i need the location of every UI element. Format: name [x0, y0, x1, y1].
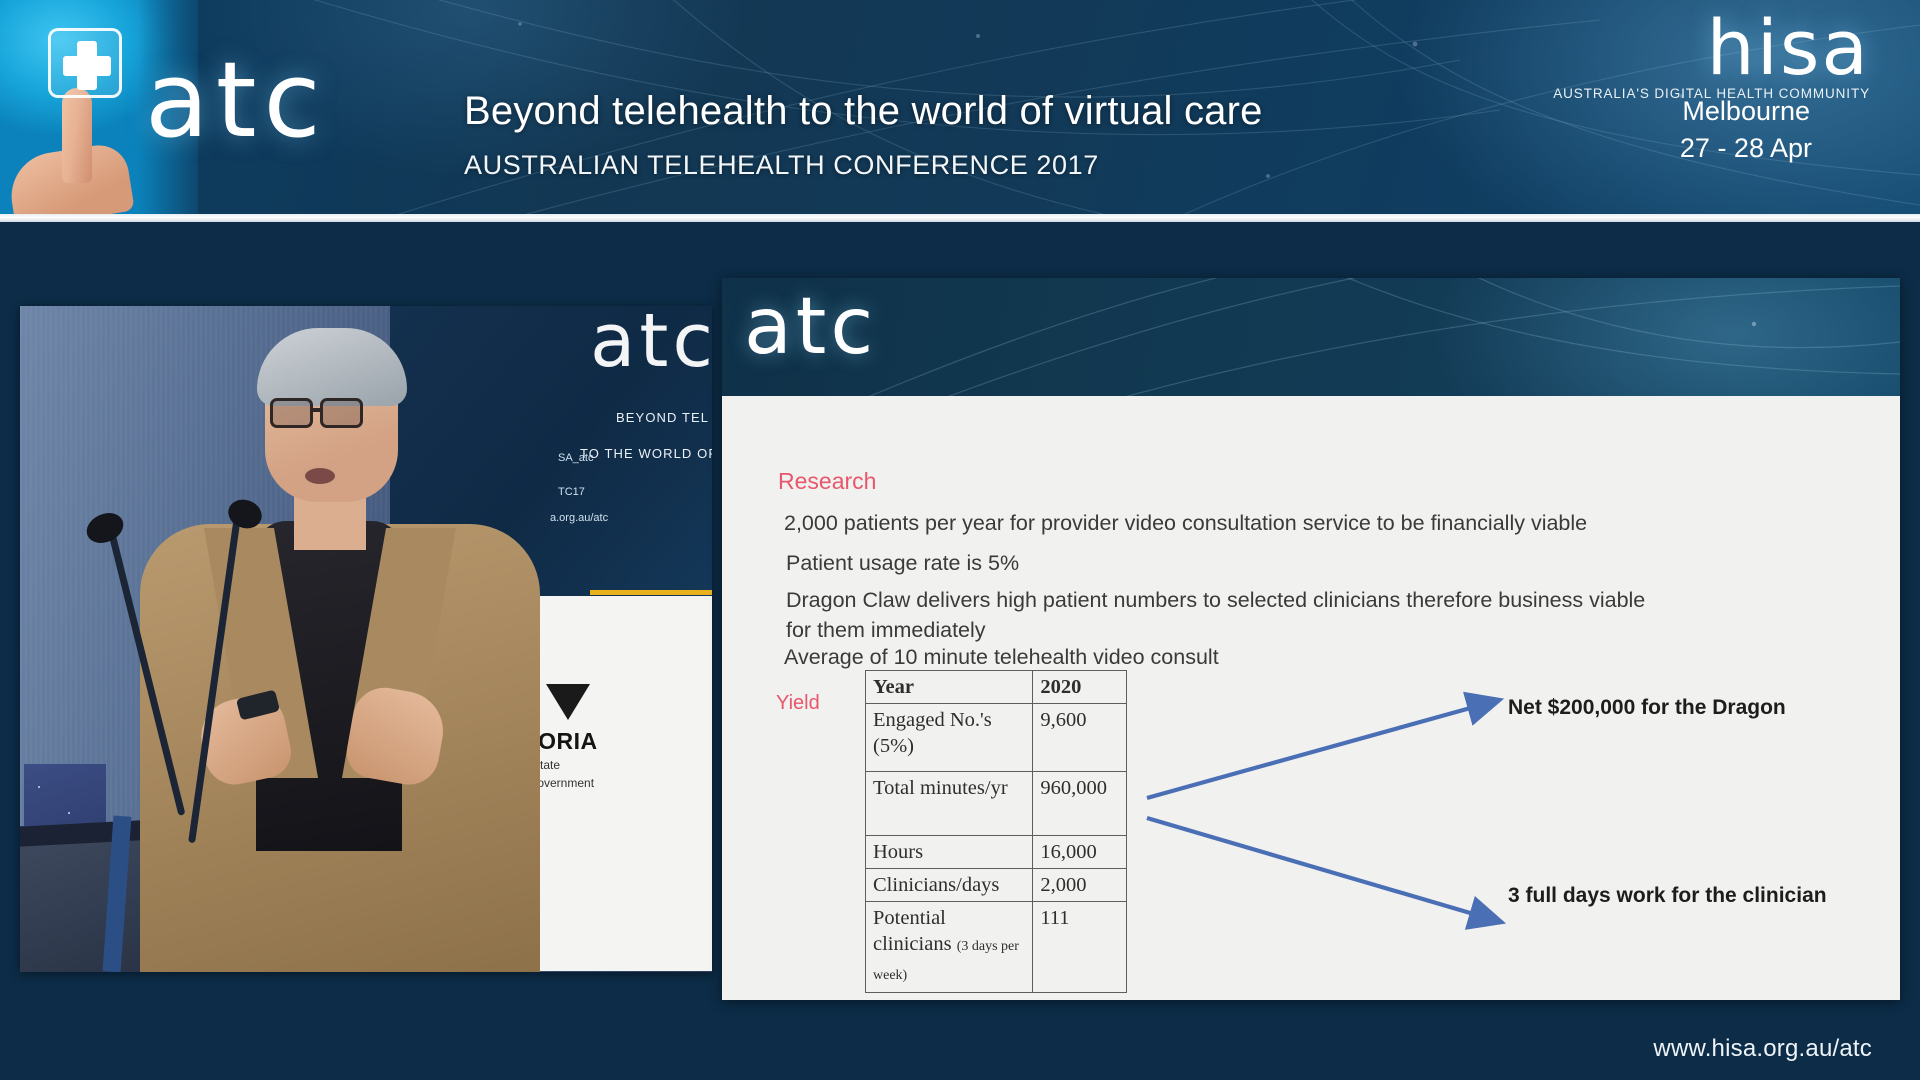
- table-cell-key: Hours: [866, 836, 1033, 869]
- annotation-net-revenue: Net $200,000 for the Dragon: [1508, 696, 1786, 720]
- backdrop-gold-rule: [590, 590, 712, 595]
- backdrop-hashtag-text: TC17: [558, 486, 585, 498]
- research-section-label: Research: [778, 468, 876, 495]
- table-cell-value: 16,000: [1033, 836, 1127, 869]
- backdrop-line-2: TO THE WORLD OF VIRTU: [580, 446, 712, 461]
- slide-header-band: atc: [722, 278, 1900, 396]
- table-row: Hours 16,000: [866, 836, 1127, 869]
- research-bullet-1: 2,000 patients per year for provider vid…: [784, 508, 1587, 538]
- yield-section-label: Yield: [776, 692, 820, 715]
- header-divider-rule: [0, 214, 1920, 222]
- table-cell-key-main: Potential clinicians: [873, 907, 952, 955]
- medical-cross-icon: [48, 28, 122, 98]
- table-cell-key: Total minutes/yr: [866, 772, 1033, 836]
- arrow-to-net-revenue: [1147, 702, 1492, 798]
- backdrop-url-text: a.org.au/atc: [550, 512, 608, 524]
- event-dates: 27 - 28 Apr: [1680, 133, 1812, 164]
- research-bullet-3: Dragon Claw delivers high patient number…: [786, 585, 1666, 645]
- arrow-to-clinician-days: [1147, 818, 1494, 920]
- table-cell-value: 2020: [1033, 671, 1127, 704]
- conference-header-banner: atc Beyond telehealth to the world of vi…: [0, 0, 1920, 214]
- table-row: Year 2020: [866, 671, 1127, 704]
- victoria-logo-icon: [546, 684, 590, 720]
- cross-horizontal-bar: [63, 56, 111, 76]
- speaker-video-panel[interactable]: atc BEYOND TEL TO THE WORLD OF VIRTU SA_…: [20, 306, 712, 972]
- annotation-clinician-days: 3 full days work for the clinician: [1508, 884, 1827, 908]
- hisa-logo: hisa: [1707, 10, 1870, 86]
- eyeglasses-left-lens: [270, 398, 313, 428]
- table-row: Clinicians/days 2,000: [866, 869, 1127, 902]
- speaker-mouth: [305, 468, 335, 484]
- research-bullet-2: Patient usage rate is 5%: [786, 548, 1019, 578]
- sponsor-banner: TORIA State Government: [510, 596, 712, 971]
- table-cell-value: 2,000: [1033, 869, 1127, 902]
- slide-atc-logo: atc: [744, 288, 877, 366]
- table-cell-key: Engaged No.'s (5%): [866, 704, 1033, 772]
- table-cell-key: Clinicians/days: [866, 869, 1033, 902]
- presentation-slide-panel[interactable]: atc Research 2,000 patients per year for…: [722, 278, 1900, 1000]
- table-cell-value: 111: [1033, 902, 1127, 993]
- eyeglasses-right-lens: [320, 398, 363, 428]
- webinar-player-page: atc Beyond telehealth to the world of vi…: [0, 0, 1920, 1080]
- conference-title: Beyond telehealth to the world of virtua…: [464, 88, 1263, 134]
- table-row: Potential clinicians (3 days per week) 1…: [866, 902, 1127, 993]
- yield-table: Year 2020 Engaged No.'s (5%) 9,600 Total…: [865, 670, 1127, 993]
- footer-website-url[interactable]: www.hisa.org.au/atc: [1653, 1035, 1872, 1063]
- slide-header-decorative-lines: [722, 278, 1900, 396]
- atc-logo: atc: [145, 48, 328, 152]
- table-cell-value: 960,000: [1033, 772, 1127, 836]
- table-row: Engaged No.'s (5%) 9,600: [866, 704, 1127, 772]
- slide-content-area: Research 2,000 patients per year for pro…: [722, 396, 1900, 1000]
- index-finger: [62, 88, 92, 183]
- eyeglasses-bridge: [312, 408, 322, 412]
- conference-subtitle: AUSTRALIAN TELEHEALTH CONFERENCE 2017: [464, 150, 1099, 180]
- table-cell-value: 9,600: [1033, 704, 1127, 772]
- backdrop-line-1: BEYOND TEL: [616, 410, 709, 425]
- table-cell-key: Potential clinicians (3 days per week): [866, 902, 1033, 993]
- table-cell-key: Year: [866, 671, 1033, 704]
- backdrop-handle-text: SA_atc: [558, 452, 593, 464]
- table-row: Total minutes/yr 960,000: [866, 772, 1127, 836]
- event-city: Melbourne: [1682, 96, 1810, 127]
- backdrop-atc-logo: atc: [590, 306, 712, 384]
